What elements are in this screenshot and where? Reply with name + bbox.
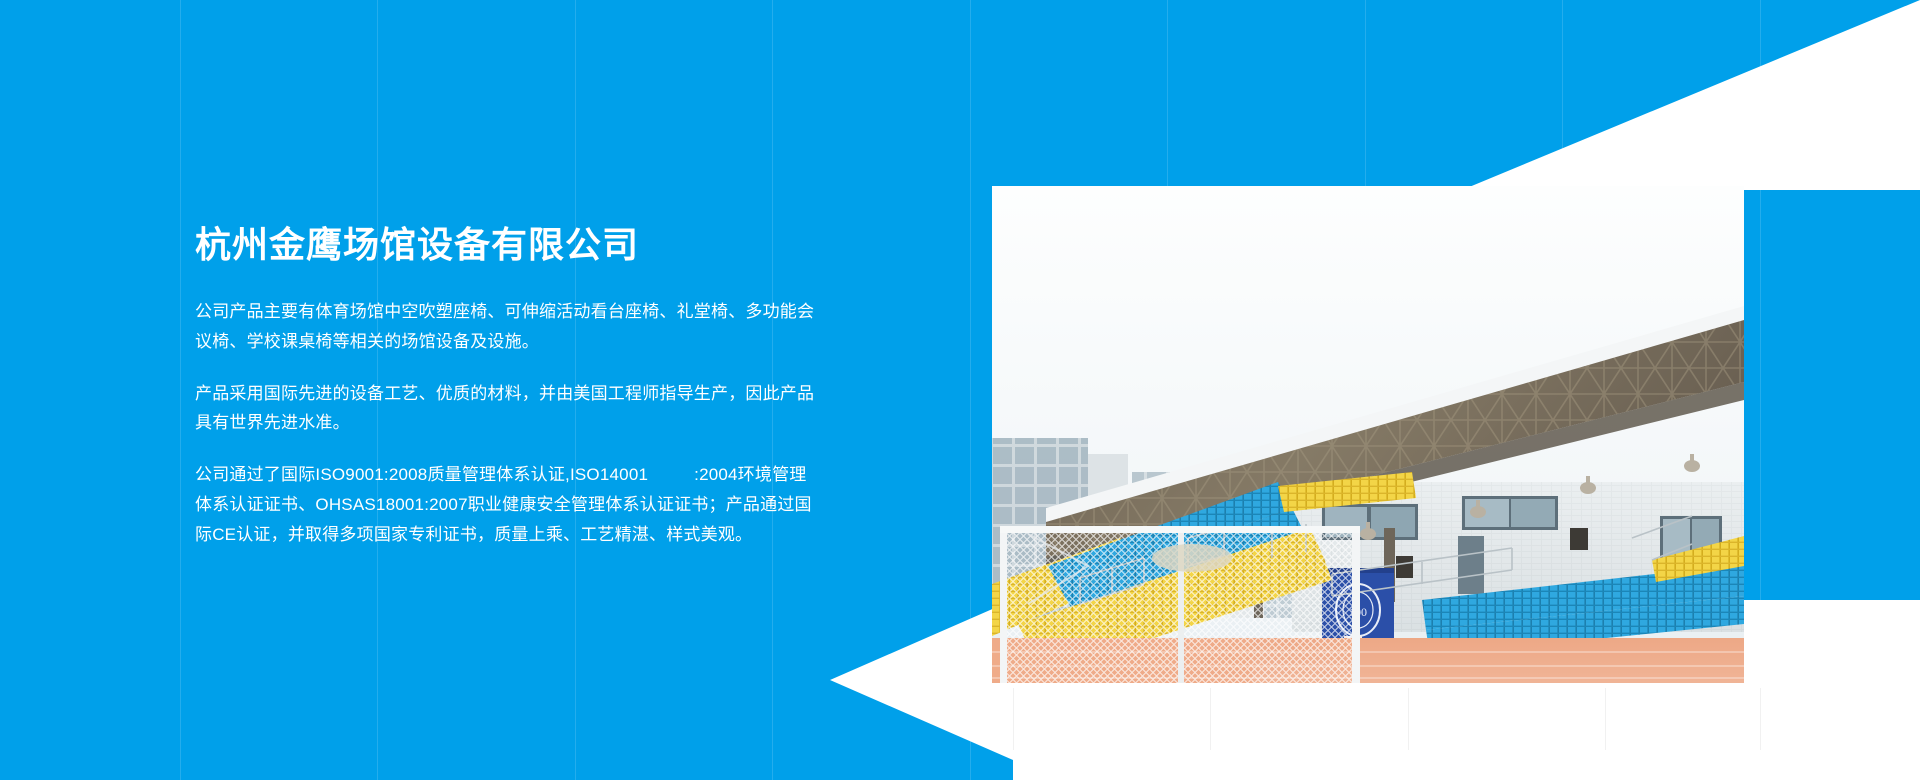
stadium-photo-illustration: 100 [992, 186, 1744, 683]
corner-triangle-icon [1462, 0, 1920, 190]
page-title: 杭州金鹰场馆设备有限公司 [195, 222, 815, 267]
speaker [1396, 556, 1413, 578]
company-quality-paragraph: 产品采用国际先进的设备工艺、优质的材料，并由美国工程师指导生产，因此产品具有世界… [195, 379, 815, 439]
soccer-goal [1000, 526, 1360, 683]
banner-stage: 杭州金鹰场馆设备有限公司 公司产品主要有体育场馆中空吹塑座椅、可伸缩活动看台座椅… [0, 0, 1920, 780]
company-text-column: 杭州金鹰场馆设备有限公司 公司产品主要有体育场馆中空吹塑座椅、可伸缩活动看台座椅… [195, 222, 815, 549]
speaker [1570, 528, 1588, 550]
certification-line-a: 公司通过了国际ISO9001:2008质量管理体系认证,ISO14001 [195, 465, 648, 484]
stadium-grandstand-photo: 100 [992, 186, 1744, 683]
company-certification-paragraph: 公司通过了国际ISO9001:2008质量管理体系认证,ISO14001:200… [195, 460, 815, 549]
company-products-paragraph: 公司产品主要有体育场馆中空吹塑座椅、可伸缩活动看台座椅、礼堂椅、多功能会议椅、学… [195, 297, 815, 357]
